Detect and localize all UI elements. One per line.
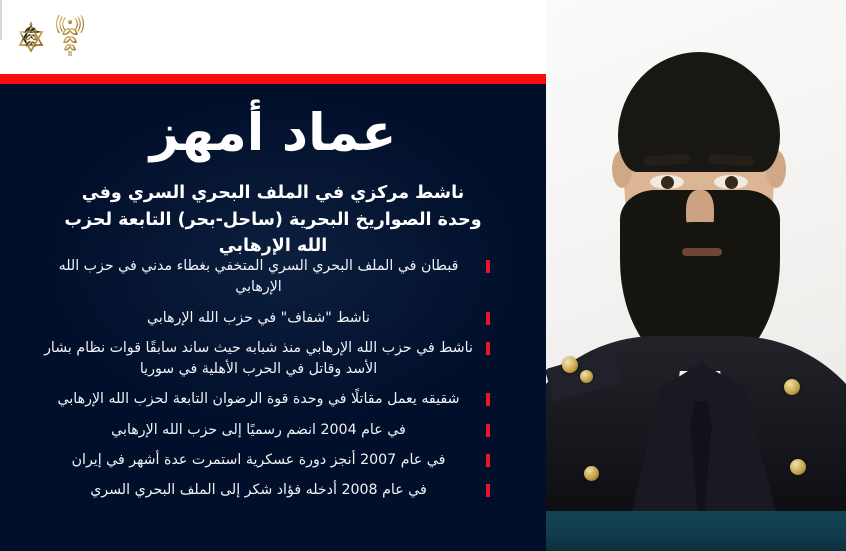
header-left-rule bbox=[0, 0, 2, 40]
list-item-label: قبطان في الملف البحري السري المتخفي بغطا… bbox=[40, 256, 477, 299]
list-item-label: شقيقه يعمل مقاتلًا في وحدة قوة الرضوان ا… bbox=[40, 389, 477, 410]
uniform-gold-button bbox=[790, 459, 806, 475]
page-title: عماد أمهز bbox=[0, 105, 546, 162]
uniform-gold-button bbox=[784, 379, 800, 395]
portrait-pupil-right bbox=[725, 176, 738, 189]
list-item: في عام 2008 أدخله فؤاد شكر إلى الملف الب… bbox=[40, 480, 490, 501]
bullet-marker-icon bbox=[486, 454, 490, 467]
fact-list: قبطان في الملف البحري السري المتخفي بغطا… bbox=[40, 256, 490, 511]
portrait-photo bbox=[546, 0, 846, 511]
idf-spokesperson-emblem bbox=[55, 14, 85, 58]
list-item: في عام 2007 أنجز دورة عسكرية استمرت عدة … bbox=[40, 450, 490, 471]
graphic-canvas: عماد أمهز ناشط مركزي في الملف البحري الس… bbox=[0, 0, 846, 551]
list-item: في عام 2004 انضم رسميًا إلى حزب الله الإ… bbox=[40, 420, 490, 441]
bullet-marker-icon bbox=[486, 393, 490, 406]
portrait-pupil-left bbox=[661, 176, 674, 189]
list-item: قبطان في الملف البحري السري المتخفي بغطا… bbox=[40, 256, 490, 299]
page-subtitle: ناشط مركزي في الملف البحري السري وفي وحد… bbox=[58, 180, 488, 260]
list-item-label: في عام 2008 أدخله فؤاد شكر إلى الملف الب… bbox=[40, 480, 477, 501]
list-item: ناشط في حزب الله الإرهابي منذ شبابه حيث … bbox=[40, 338, 490, 381]
list-item: ناشط "شفاف" في حزب الله الإرهابي bbox=[40, 308, 490, 329]
list-item-label: في عام 2007 أنجز دورة عسكرية استمرت عدة … bbox=[40, 450, 477, 471]
red-divider-stripe bbox=[0, 74, 546, 84]
footer-teal-band bbox=[546, 511, 846, 551]
idf-emblem bbox=[14, 20, 48, 58]
list-item: شقيقه يعمل مقاتلًا في وحدة قوة الرضوان ا… bbox=[40, 389, 490, 410]
portrait-mustache bbox=[666, 222, 736, 246]
bullet-marker-icon bbox=[486, 342, 490, 355]
bullet-marker-icon bbox=[486, 424, 490, 437]
uniform-gold-button bbox=[584, 466, 599, 481]
emblem-group bbox=[14, 14, 85, 58]
bullet-marker-icon bbox=[486, 260, 490, 273]
uniform-gold-button bbox=[580, 370, 593, 383]
list-item-label: في عام 2004 انضم رسميًا إلى حزب الله الإ… bbox=[40, 420, 477, 441]
bullet-marker-icon bbox=[486, 312, 490, 325]
portrait-lip bbox=[682, 248, 722, 256]
bullet-marker-icon bbox=[486, 484, 490, 497]
list-item-label: ناشط "شفاف" في حزب الله الإرهابي bbox=[40, 308, 477, 329]
list-item-label: ناشط في حزب الله الإرهابي منذ شبابه حيث … bbox=[40, 338, 477, 381]
header-band bbox=[0, 0, 546, 74]
uniform-gold-button bbox=[562, 357, 578, 373]
